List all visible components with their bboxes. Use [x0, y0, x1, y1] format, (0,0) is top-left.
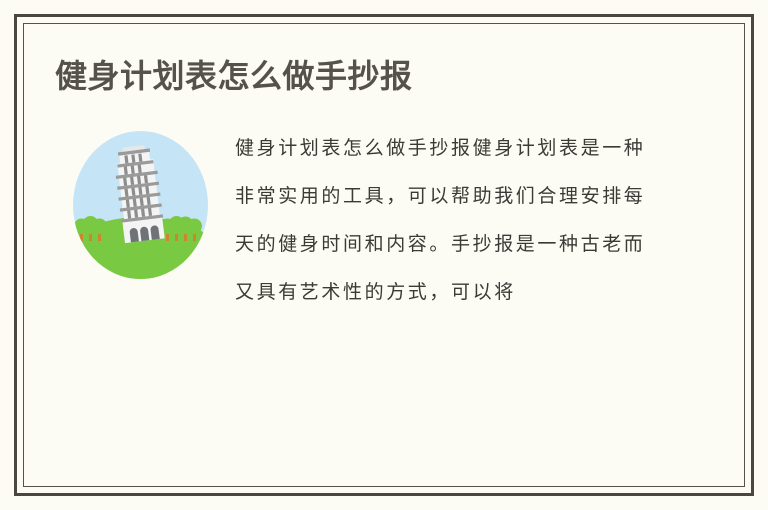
page-title: 健身计划表怎么做手抄报	[55, 56, 715, 96]
page-root: 健身计划表怎么做手抄报	[0, 0, 768, 510]
article-body-text: 健身计划表怎么做手抄报健身计划表是一种非常实用的工具，可以帮助我们合理安排每天的…	[235, 124, 655, 316]
content-area: 健身计划表怎么做手抄报	[23, 23, 745, 487]
article-body: 健身计划表怎么做手抄报健身计划表是一种非常实用的工具，可以帮助我们合理安排每天的…	[55, 128, 715, 316]
leaning-tower-of-pisa-illustration	[73, 131, 208, 279]
